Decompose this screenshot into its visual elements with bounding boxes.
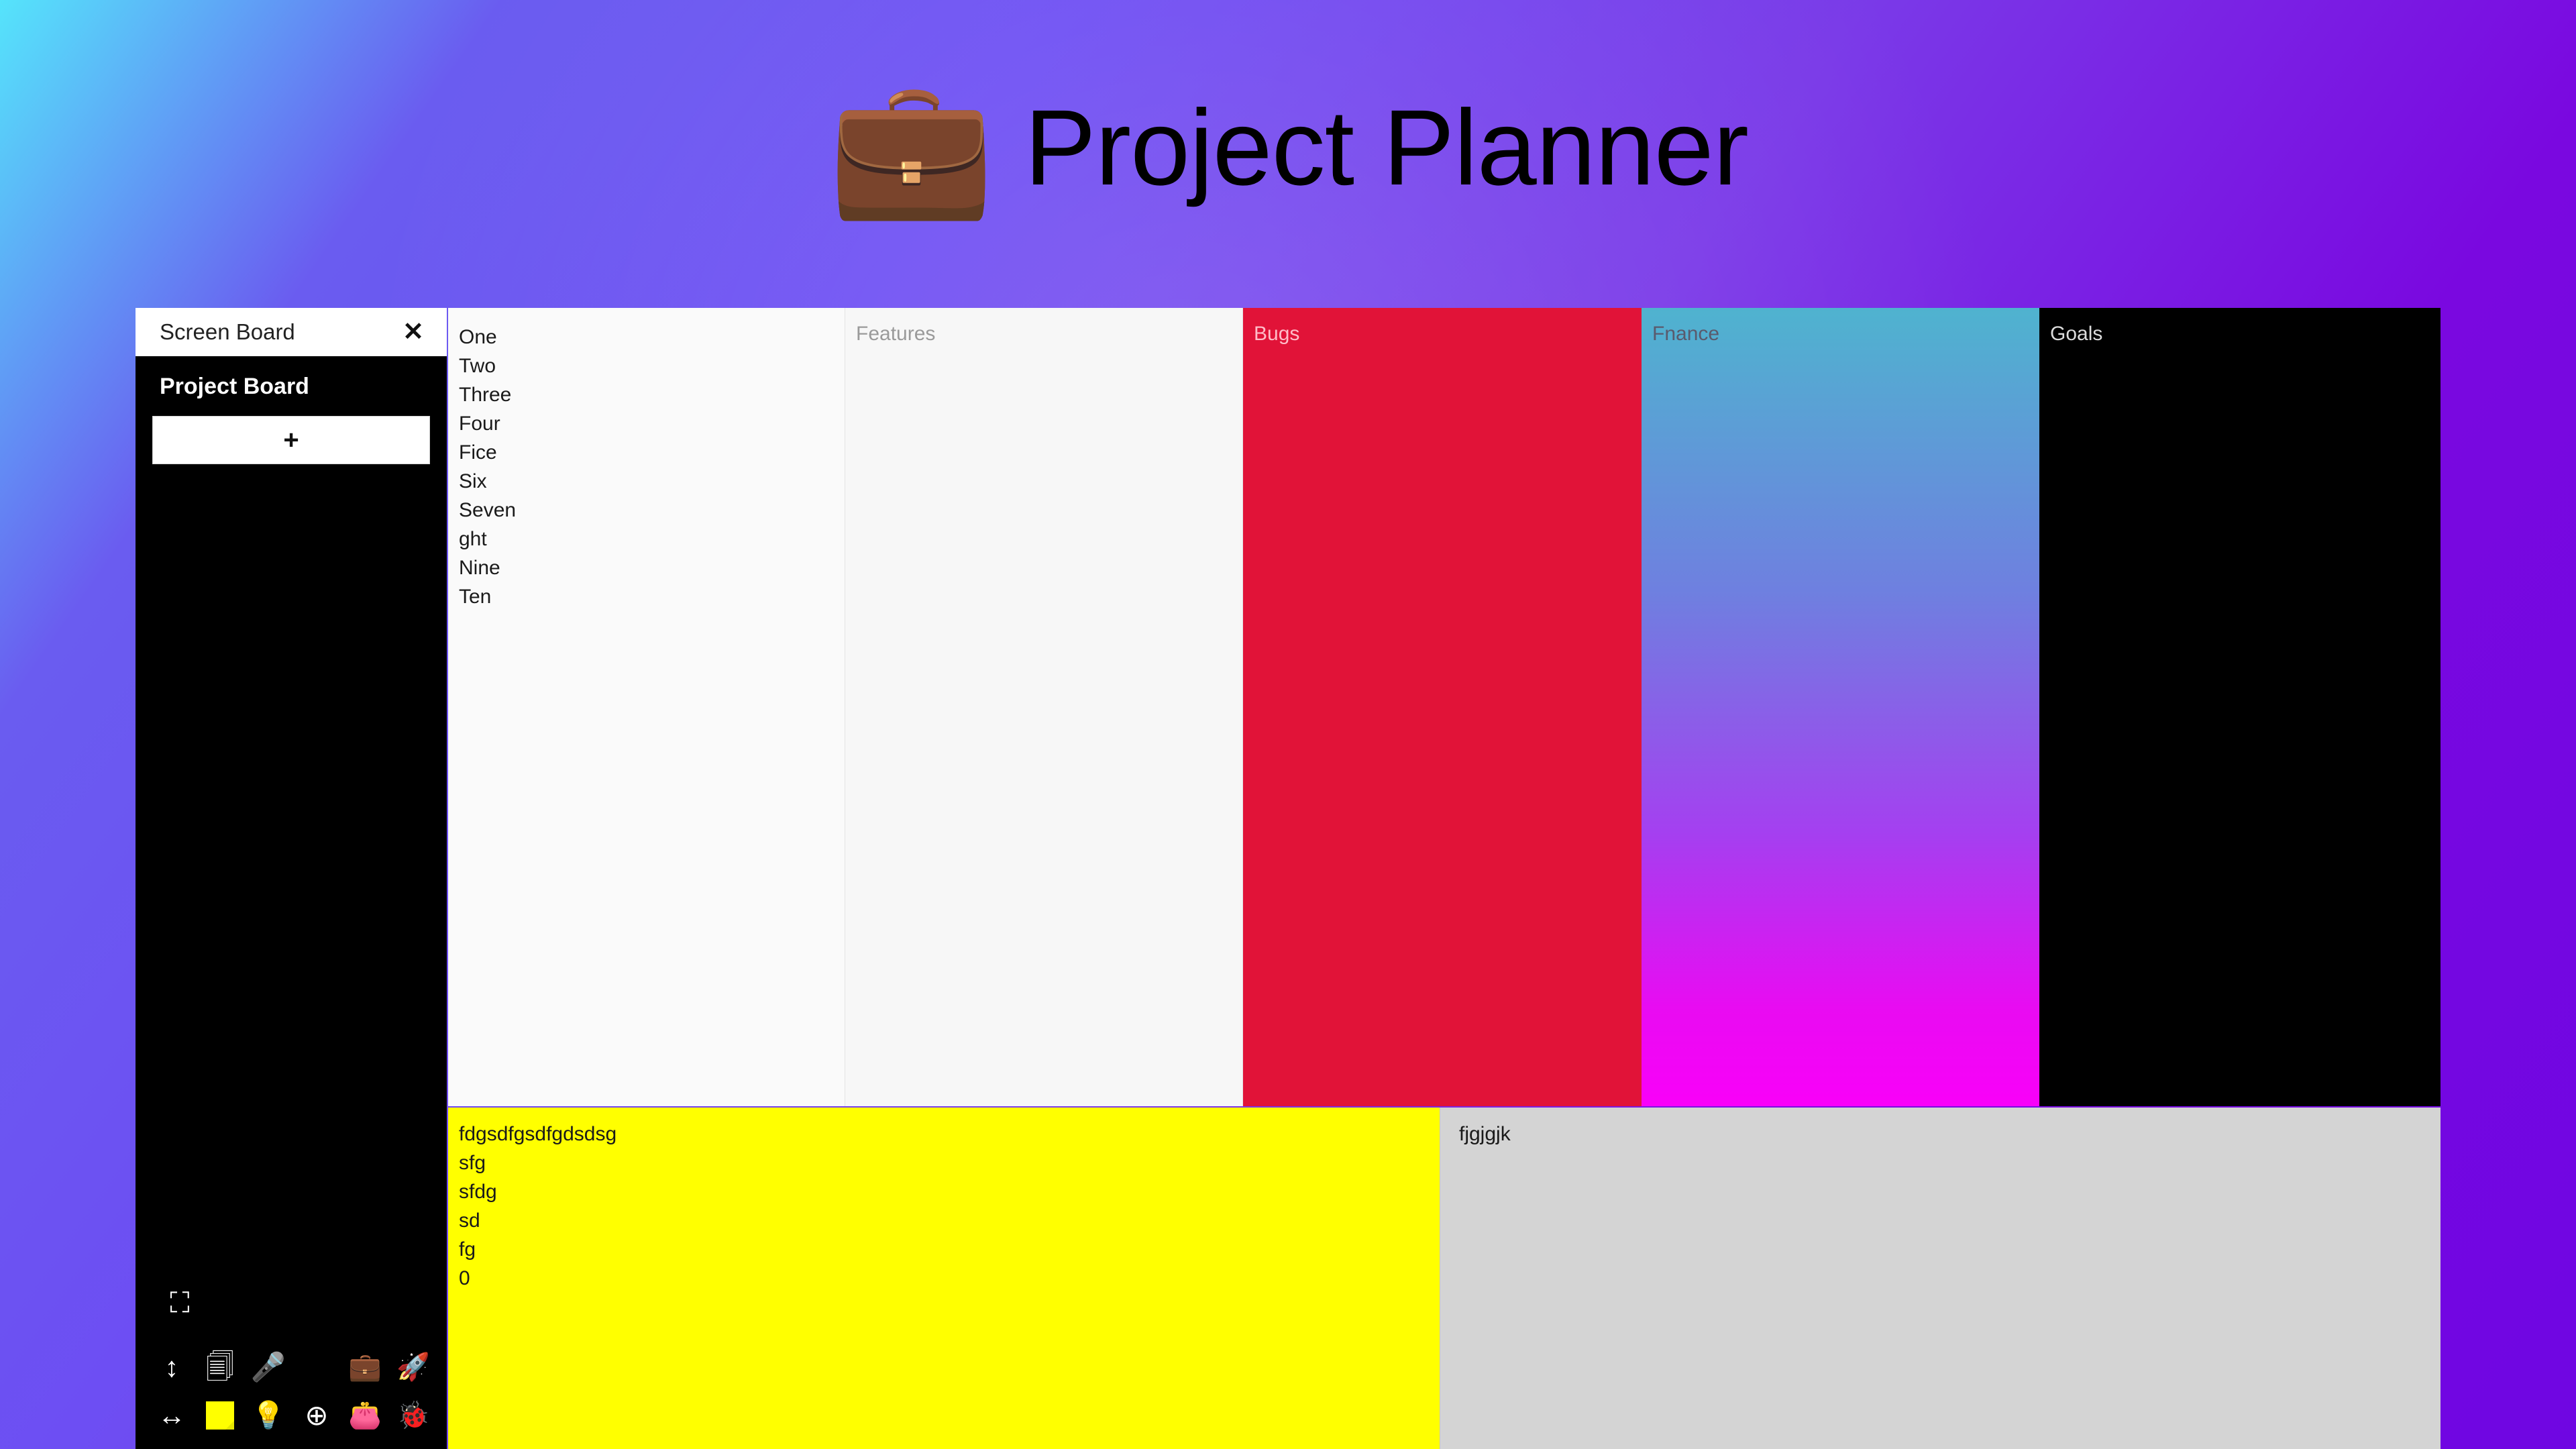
sidebar-spacer xyxy=(136,464,447,1279)
scratch-line[interactable]: fjgjgjk xyxy=(1459,1120,2440,1148)
toolbar-spacer xyxy=(292,1343,341,1391)
resize-horizontal-icon[interactable]: ↔ xyxy=(148,1391,196,1440)
list-item[interactable]: Three xyxy=(459,380,845,409)
add-board-button[interactable]: + xyxy=(152,416,430,464)
list-item[interactable]: ght xyxy=(459,525,845,553)
column-title-bugs[interactable]: Bugs xyxy=(1243,308,1642,345)
list-item[interactable]: Six xyxy=(459,467,845,496)
sidebar-item-label: Project Board xyxy=(160,374,309,399)
sidebar: Screen Board ✕ Project Board + ⛶ ↕ 🗐 🎤 💼… xyxy=(136,308,447,1449)
board-bottom-panels: fdgsdfgsdfgdsdsg sfg sfdg sd fg 0 fjgjgj… xyxy=(448,1108,2440,1449)
note-line[interactable]: sfg xyxy=(459,1148,1440,1177)
close-icon[interactable]: ✕ xyxy=(398,318,428,346)
note-line[interactable]: fg xyxy=(459,1235,1440,1264)
list-item[interactable]: One xyxy=(459,323,845,352)
sticky-note-shape xyxy=(206,1401,234,1430)
sidebar-header: Screen Board ✕ xyxy=(136,308,447,356)
board-column-finance[interactable]: Fnance xyxy=(1642,308,2039,1106)
app-header: 💼 Project Planner xyxy=(0,0,2576,295)
column-title-features[interactable]: Features xyxy=(845,308,1242,345)
panel-scratch[interactable]: fjgjgjk xyxy=(1440,1108,2440,1449)
fullscreen-icon[interactable]: ⛶ xyxy=(156,1279,204,1327)
toolbar-row-fullscreen: ⛶ xyxy=(136,1279,447,1343)
copy-icon[interactable]: 🗐 xyxy=(196,1343,244,1391)
toolbar-row-2: ↔ 💡 ⊕ 👛 🐞 xyxy=(136,1391,447,1440)
board-column-goals[interactable]: Goals xyxy=(2039,308,2440,1106)
list-item[interactable]: Fice xyxy=(459,438,845,467)
note-line[interactable]: sd xyxy=(459,1206,1440,1235)
target-icon[interactable]: ⊕ xyxy=(292,1391,341,1440)
note-line[interactable]: sfdg xyxy=(459,1177,1440,1206)
briefcase-icon[interactable]: 💼 xyxy=(341,1343,389,1391)
lightbulb-icon[interactable]: 💡 xyxy=(244,1391,292,1440)
board-column-features[interactable]: Features xyxy=(845,308,1243,1106)
list-item[interactable]: Four xyxy=(459,409,845,438)
page-title: Project Planner xyxy=(1024,94,1748,201)
note-line[interactable]: fdgsdfgsdfgdsdsg xyxy=(459,1120,1440,1148)
list-item[interactable]: Two xyxy=(459,352,845,380)
sticky-note-icon[interactable] xyxy=(196,1391,244,1440)
sidebar-toolbar: ⛶ ↕ 🗐 🎤 💼 🚀 ↔ 💡 ⊕ 👛 🐞 xyxy=(136,1279,447,1449)
wallet-icon[interactable]: 👛 xyxy=(341,1391,389,1440)
bug-icon[interactable]: 🐞 xyxy=(389,1391,437,1440)
panel-notes[interactable]: fdgsdfgsdfgdsdsg sfg sfdg sd fg 0 xyxy=(448,1108,1440,1449)
board-list: Project Board xyxy=(136,356,447,416)
briefcase-icon: 💼 xyxy=(828,80,995,215)
toolbar-row-1: ↕ 🗐 🎤 💼 🚀 xyxy=(136,1343,447,1391)
column-cards-tasks: One Two Three Four Fice Six Seven ght Ni… xyxy=(448,308,845,611)
microphone-icon[interactable]: 🎤 xyxy=(244,1343,292,1391)
column-title-goals[interactable]: Goals xyxy=(2039,308,2440,345)
list-item[interactable]: Nine xyxy=(459,553,845,582)
board-column-bugs[interactable]: Bugs xyxy=(1243,308,1642,1106)
board-column-tasks[interactable]: One Two Three Four Fice Six Seven ght Ni… xyxy=(448,308,845,1106)
add-board-label: + xyxy=(283,425,299,455)
board-columns: One Two Three Four Fice Six Seven ght Ni… xyxy=(448,308,2440,1106)
board-area: Screen Board ✕ Project Board + ⛶ ↕ 🗐 🎤 💼… xyxy=(136,308,2440,1449)
list-item[interactable]: Seven xyxy=(459,496,845,525)
sidebar-title: Screen Board xyxy=(160,319,295,345)
resize-vertical-icon[interactable]: ↕ xyxy=(148,1343,196,1391)
note-line[interactable]: 0 xyxy=(459,1264,1440,1293)
list-item[interactable]: Ten xyxy=(459,582,845,611)
column-title-finance[interactable]: Fnance xyxy=(1642,308,2039,345)
sidebar-item-project-board[interactable]: Project Board xyxy=(136,368,447,416)
rocket-icon[interactable]: 🚀 xyxy=(389,1343,437,1391)
